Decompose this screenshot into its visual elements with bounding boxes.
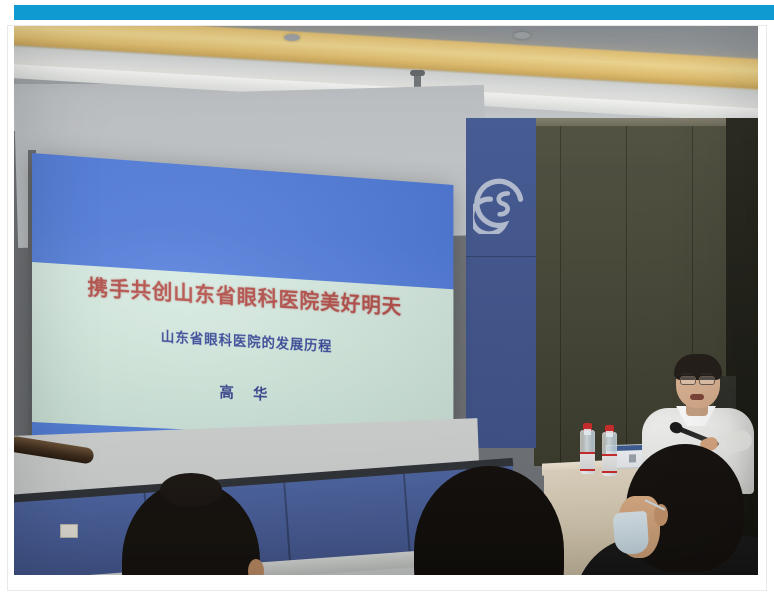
water-bottle <box>602 432 617 476</box>
wall-outlet-plate <box>60 524 78 538</box>
blue-wall-panel <box>466 118 536 448</box>
page-root: 携手共创山东省眼科医院美好明天 山东省眼科医院的发展历程 高 华 © 2021 … <box>0 0 774 596</box>
top-accent-bar <box>14 5 774 20</box>
glasses-icon <box>680 376 696 385</box>
water-bottle <box>580 430 595 474</box>
conference-photo: 携手共创山东省眼科医院美好明天 山东省眼科医院的发展历程 高 华 © 2021 … <box>14 26 758 575</box>
ceiling-spot-icon <box>514 32 530 39</box>
swirl-s-logo-icon <box>473 176 531 234</box>
ceiling-spot-icon <box>284 34 300 41</box>
glasses-icon <box>699 376 715 385</box>
face-mask-icon <box>613 511 650 555</box>
presenter-mouth <box>690 394 704 400</box>
